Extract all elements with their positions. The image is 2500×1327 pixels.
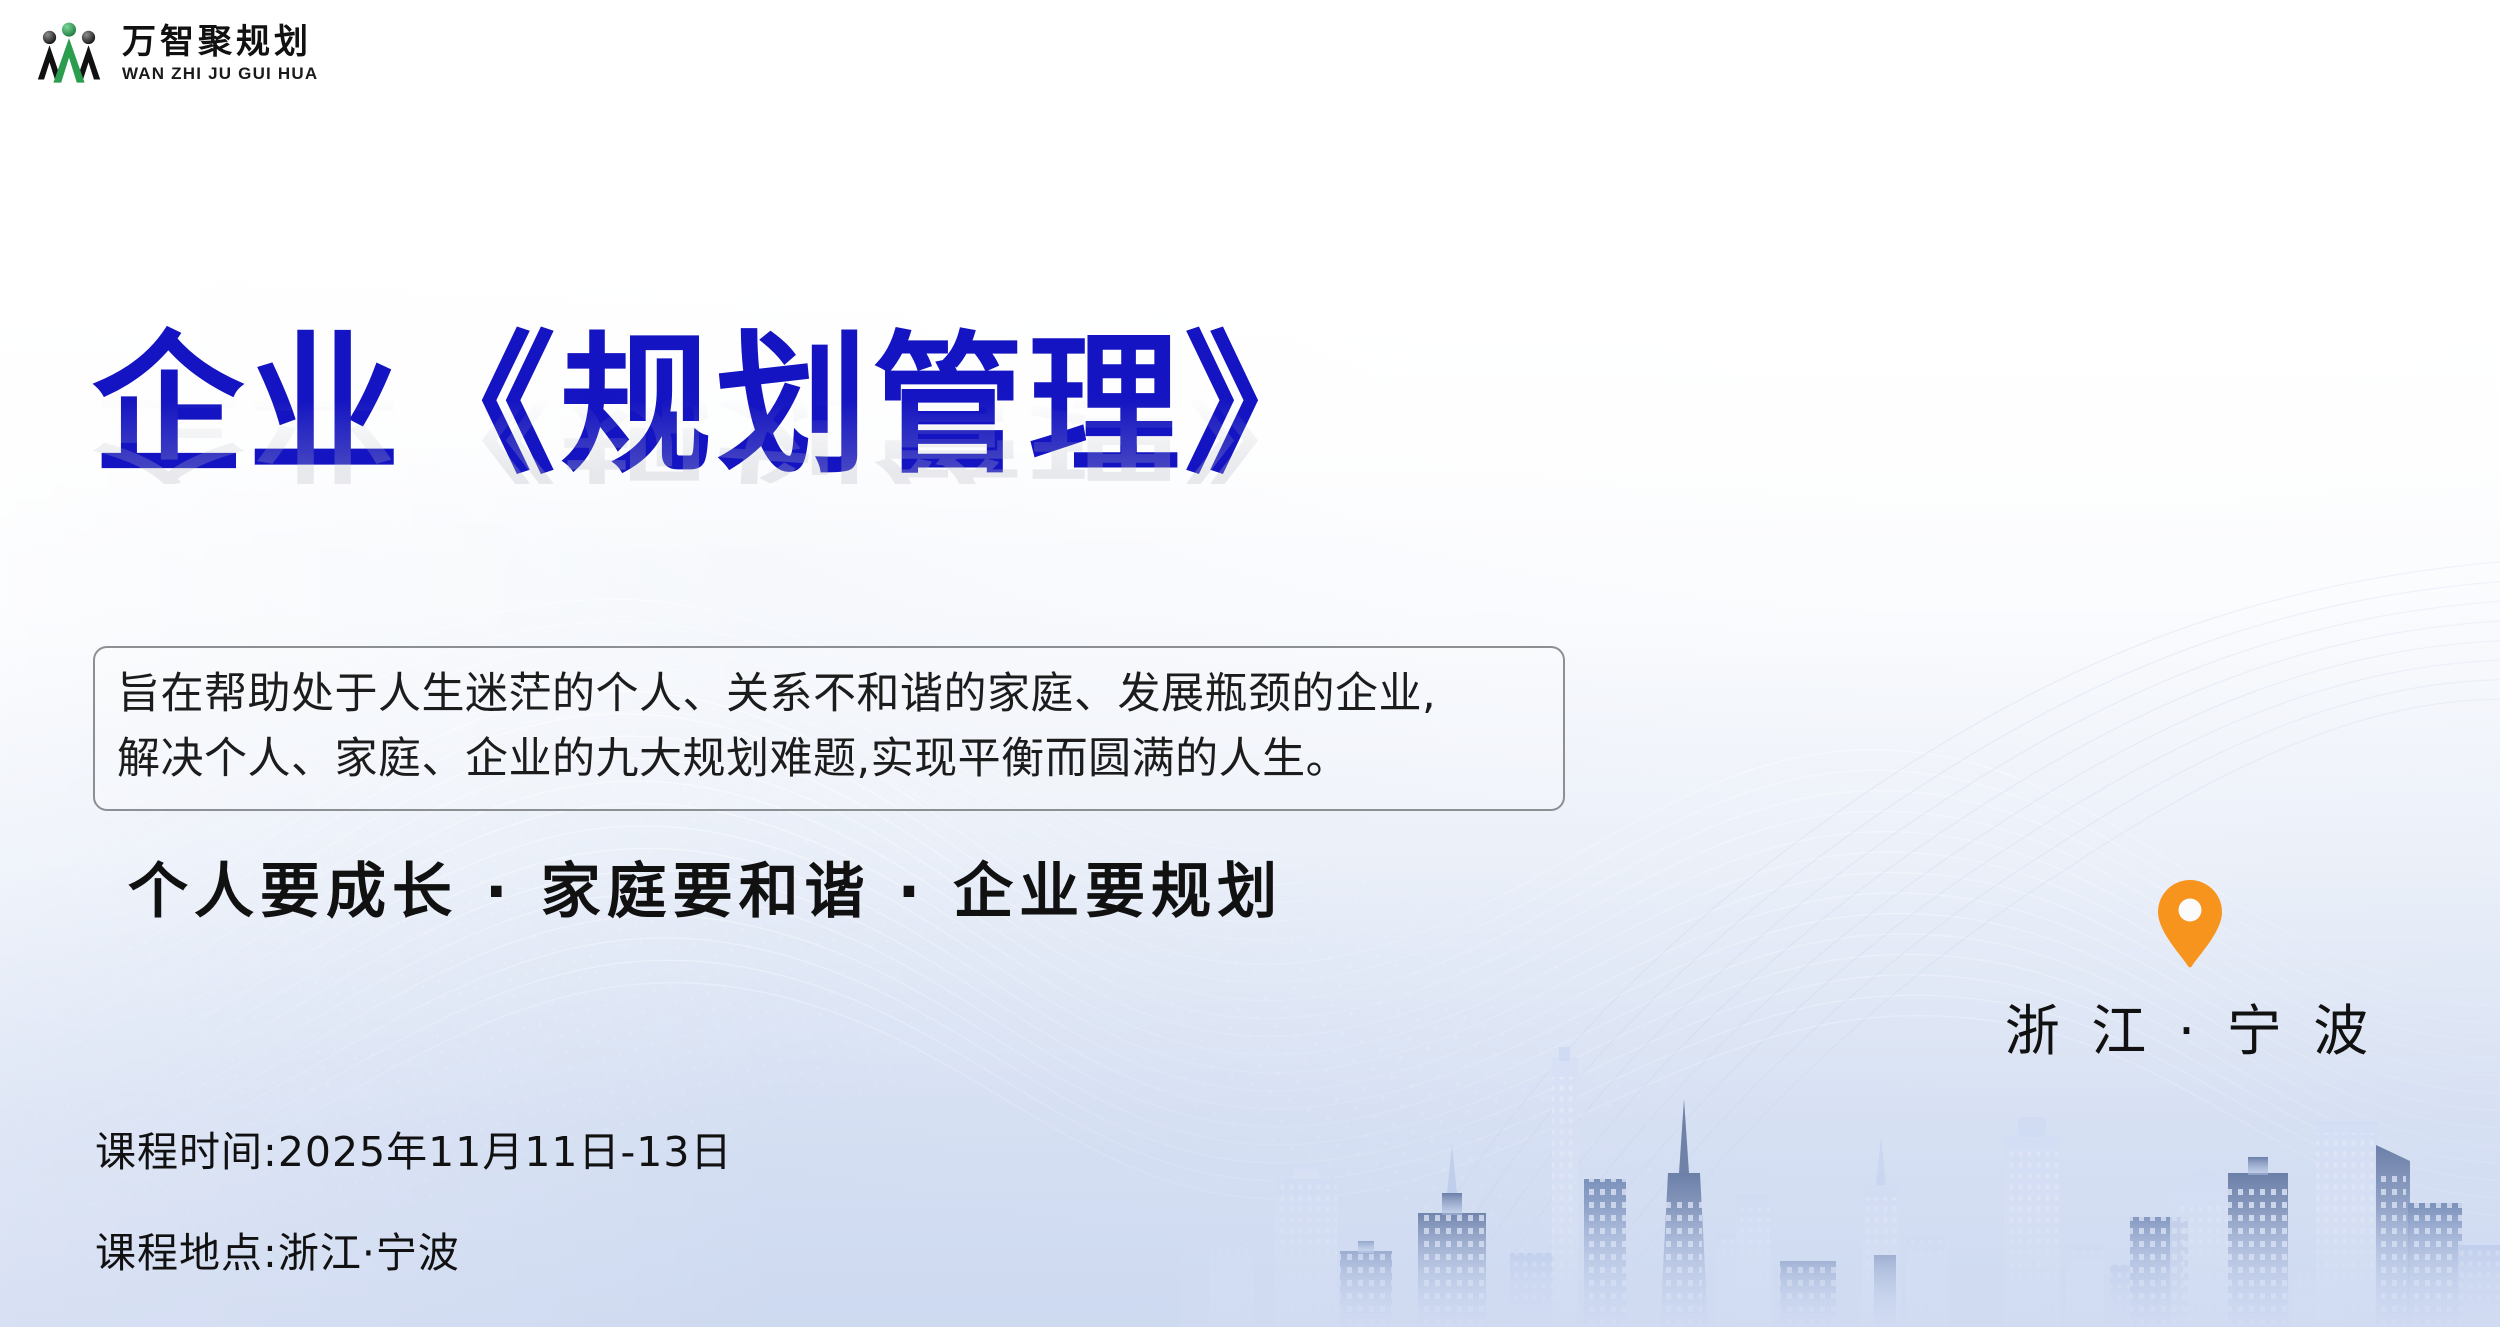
brand-name-cn: 万智聚规划 bbox=[122, 25, 318, 59]
location-label: 浙 江 · 宁 波 bbox=[2005, 986, 2375, 1066]
description-line-1: 旨在帮助处于人生迷茫的个人、关系不和谐的家庭、发展瓶颈的企业, bbox=[117, 662, 1543, 727]
brand-logo-text: 万智聚规划 WAN ZHI JU GUI HUA bbox=[122, 25, 318, 82]
location-badge: 浙 江 · 宁 波 bbox=[1960, 880, 2420, 1066]
three-people-logo-icon bbox=[30, 14, 108, 92]
slogan-text: 个人要成长 · 家庭要和谐 · 企业要规划 bbox=[128, 843, 1283, 930]
page-title: 企业《规划管理》 bbox=[92, 330, 1792, 482]
description-line-2: 解决个人、家庭、企业的九大规划难题,实现平衡而圆满的人生。 bbox=[117, 727, 1543, 792]
course-place: 课程地点:浙江·宁波 bbox=[95, 1219, 732, 1279]
hero-title-block: 企业《规划管理》 企业《规划管理》 bbox=[92, 330, 1792, 636]
course-time: 课程时间:2025年11月11日-13日 bbox=[95, 1118, 732, 1178]
brand-name-en: WAN ZHI JU GUI HUA bbox=[122, 65, 318, 82]
description-box: 旨在帮助处于人生迷茫的个人、关系不和谐的家庭、发展瓶颈的企业, 解决个人、家庭、… bbox=[93, 646, 1565, 811]
poster-canvas: 万智聚规划 WAN ZHI JU GUI HUA 企业《规划管理》 企业《规划管… bbox=[0, 0, 2500, 1327]
map-pin-icon bbox=[2158, 880, 2222, 968]
brand-logo[interactable]: 万智聚规划 WAN ZHI JU GUI HUA bbox=[30, 14, 318, 92]
course-info-block: 课程时间:2025年11月11日-13日 课程地点:浙江·宁波 bbox=[95, 1118, 732, 1279]
